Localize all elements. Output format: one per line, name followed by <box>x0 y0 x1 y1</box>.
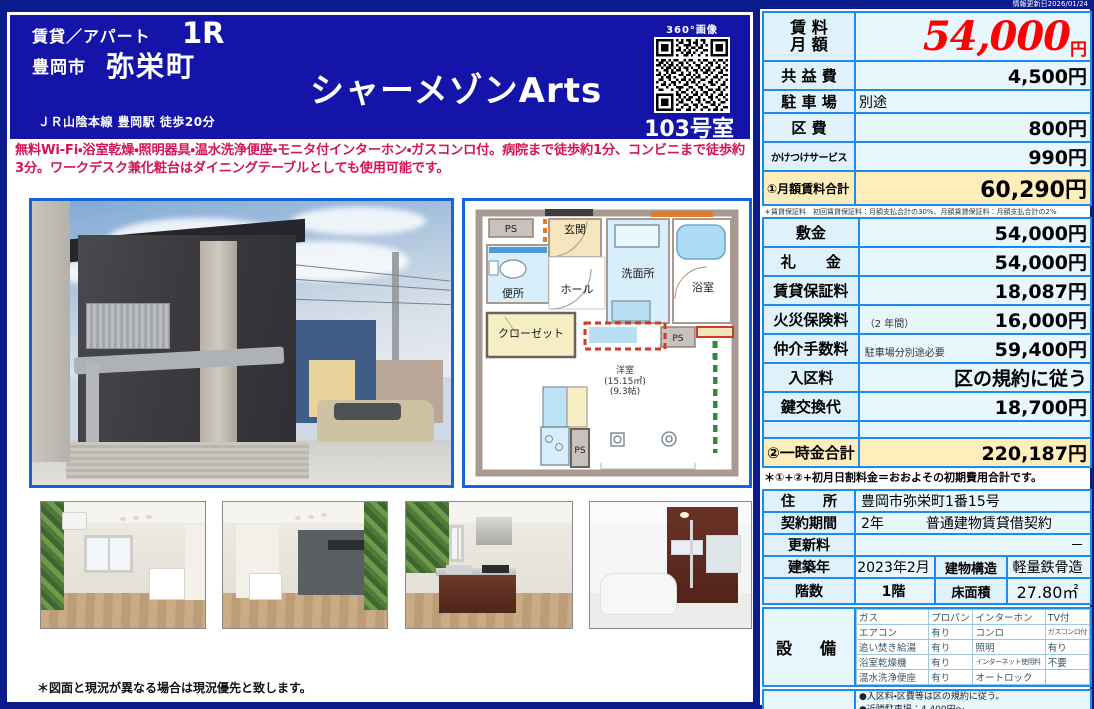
equipment-value <box>1045 670 1089 685</box>
build-year-label: 建築年 <box>763 556 855 578</box>
remarks-table: 備 考 ●入区料・区費等は区の規約に従う。 ●近隣駐車場：4,400円～ ●仲介… <box>762 689 1092 709</box>
counter-desk <box>149 568 185 601</box>
equipment-row: ガス プロパン インターホン TV付 <box>857 610 1090 625</box>
partition-wall <box>185 525 205 601</box>
equipment-value: 有り <box>1045 640 1089 655</box>
facade-panel <box>200 241 238 445</box>
table-row-support-service: かけつけサービス 990円 <box>763 142 1091 171</box>
remarks-label: 備 考 <box>763 690 855 709</box>
floor-area-value: 27.80㎡ <box>1007 578 1091 604</box>
initial-cost-note: ＊①+②+初月日割料金＝おおよその初期費用合計です。 <box>760 468 1090 487</box>
district-entry-fee-label: 入区料 <box>763 363 859 392</box>
table-row-fire-insurance: 火災保険料 （2 年間） 16,000円 <box>763 305 1091 334</box>
shower-rail <box>690 520 693 588</box>
equipment-key: ガス <box>857 610 929 625</box>
left-panel: 賃貸／アパート 1R 豊岡市 弥栄町 シャーメゾンArts ＪＲ山陰本線 豊岡駅… <box>4 9 756 705</box>
right-panel: 賃 料月 額 54,000円 共 益 費 4,500円 駐 車 場 別途 区 費… <box>760 9 1090 705</box>
onetime-total-value: 220,187円 <box>859 438 1091 467</box>
svg-text:ホール: ホール <box>561 283 594 296</box>
green-accent-wall <box>406 502 449 573</box>
equipment-key: コンロ <box>973 625 1045 640</box>
svg-text:(15.15㎡): (15.15㎡) <box>604 376 646 387</box>
address-value: 豊岡市弥栄町1番15号 <box>855 490 1091 512</box>
table-row-address: 住 所 豊岡市弥栄町1番15号 <box>763 490 1091 512</box>
support-service-label: かけつけサービス <box>763 142 855 171</box>
table-row-district-fee: 区 費 800円 <box>763 113 1091 142</box>
deposit-label: 敷金 <box>763 218 859 247</box>
table-row-guarantee-fee: 賃貸保証料 18,087円 <box>763 276 1091 305</box>
equipment-row: 温水洗浄便座 有り オートロック <box>857 670 1090 685</box>
building-name: シャーメゾンArts <box>310 63 602 112</box>
table-row-onetime-total: ②一時金合計 220,187円 <box>763 438 1091 467</box>
svg-text:PS: PS <box>505 224 517 235</box>
district-fee-label: 区 費 <box>763 113 855 142</box>
ceiling <box>223 502 387 523</box>
window <box>449 525 464 563</box>
guarantee-note: ＊賃貸保証料 初回賃貸保証料：月額支払合計の30%、月額賃貸保証料：月額支払合計… <box>760 206 1090 217</box>
contract-period-value: 2年 普通建物賃貸借契約 <box>855 512 1091 534</box>
deposit-value: 54,000円 <box>859 218 1091 247</box>
qr-code-icon[interactable] <box>654 37 730 113</box>
equipment-value: 有り <box>929 670 973 685</box>
table-row-renewal-fee: 更新料 － <box>763 534 1091 556</box>
table-row-key-exchange: 鍵交換代 18,700円 <box>763 392 1091 421</box>
remark-line: ●近隣駐車場：4,400円～ <box>859 704 1087 709</box>
rent-table: 賃 料月 額 54,000円 共 益 費 4,500円 駐 車 場 別途 区 費… <box>762 11 1092 206</box>
exterior-scene <box>32 201 451 485</box>
downlight <box>133 516 139 520</box>
svg-text:浴室: 浴室 <box>692 281 714 294</box>
table-row-key-money: 礼 金 54,000円 <box>763 247 1091 276</box>
district-entry-fee-value: 区の規約に従う <box>859 363 1091 392</box>
equipment-key: 照明 <box>973 640 1045 655</box>
room-number: 103号室 <box>644 111 734 139</box>
equipment-label: 設 備 <box>763 608 855 686</box>
air-conditioner <box>62 512 87 530</box>
parking-value: 別途 <box>855 90 1091 113</box>
parking-label: 駐 車 場 <box>763 90 855 113</box>
contract-period-label: 契約期間 <box>763 512 855 534</box>
downlight <box>308 515 314 519</box>
table-row-blank <box>763 421 1091 438</box>
table-row-monthly-total: ①月額賃料合計 60,290円 <box>763 171 1091 205</box>
property-type-label: 賃貸／アパート <box>32 23 151 47</box>
blank-value <box>859 421 1091 438</box>
equipment-value: 有り <box>929 640 973 655</box>
equipment-key: インターホン <box>973 610 1045 625</box>
detail-table: 住 所 豊岡市弥栄町1番15号 契約期間 2年 普通建物賃貸借契約 更新料 － … <box>762 489 1092 605</box>
city-label: 豊岡市 <box>32 53 86 78</box>
svg-text:クローゼット: クローゼット <box>498 327 564 340</box>
equipment-value: TV付 <box>1045 610 1089 625</box>
table-row-remarks: 備 考 ●入区料・区費等は区の規約に従う。 ●近隣駐車場：4,400円～ ●仲介… <box>763 690 1091 709</box>
town-label: 弥栄町 <box>106 45 196 85</box>
shelf <box>328 540 364 550</box>
table-row-build-structure: 建築年 2023年2月 建物構造 軽量鉄骨造 <box>763 556 1091 578</box>
table-row-common-fee: 共 益 費 4,500円 <box>763 61 1091 90</box>
equipment-row: 追い焚き給湯 有り 照明 有り <box>857 640 1090 655</box>
equipment-key: エアコン <box>857 625 929 640</box>
structure-value: 軽量鉄骨造 <box>1007 556 1091 578</box>
photo-kitchen[interactable] <box>405 501 573 629</box>
floorplan-drawing: PS <box>465 201 749 485</box>
remarks-body: ●入区料・区費等は区の規約に従う。 ●近隣駐車場：4,400円～ ●仲介手数料・… <box>855 690 1091 709</box>
common-fee-label: 共 益 費 <box>763 61 855 90</box>
key-money-value: 54,000円 <box>859 247 1091 276</box>
equipment-key: 浴室乾燥機 <box>857 655 929 670</box>
onetime-total-label: ②一時金合計 <box>763 438 859 467</box>
svg-text:(9.3帖): (9.3帖) <box>610 385 640 397</box>
photo-living-1[interactable] <box>40 501 206 629</box>
fire-insurance-value-cell: （2 年間） 16,000円 <box>859 305 1091 334</box>
svg-text:玄関: 玄関 <box>564 223 586 236</box>
guarantee-fee-value: 18,087円 <box>859 276 1091 305</box>
svg-text:便所: 便所 <box>502 286 524 300</box>
key-exchange-value: 18,700円 <box>859 392 1091 421</box>
equipment-key: 追い焚き給湯 <box>857 640 929 655</box>
equipment-value: 不要 <box>1045 655 1089 670</box>
boundary-wall <box>66 442 309 479</box>
brokerage-fee-label: 仲介手数料 <box>763 334 859 363</box>
table-row-brokerage-fee: 仲介手数料 駐車場分別途必要 59,400円 <box>763 334 1091 363</box>
counter-desk <box>249 573 282 601</box>
range-hood <box>476 517 513 545</box>
blank-label <box>763 421 859 438</box>
equipment-key: オートロック <box>973 670 1045 685</box>
monthly-total-label: ①月額賃料合計 <box>763 171 855 205</box>
floor-label: 階数 <box>763 578 855 604</box>
qr-block[interactable]: 360°画像 <box>650 21 734 113</box>
bathtub <box>600 573 677 616</box>
downlight <box>146 515 152 519</box>
kitchen-cabinet <box>439 575 515 613</box>
equipment-value: 有り <box>929 625 973 640</box>
property-description: 無料Wi-Fi・浴室乾燥・照明器具・温水洗浄便座・モニタ付インターホン・ガスコン… <box>15 142 747 177</box>
downlight <box>120 517 126 521</box>
table-row-contract-period: 契約期間 2年 普通建物賃貸借契約 <box>763 512 1091 534</box>
equipment-value: 有り <box>929 655 973 670</box>
key-exchange-label: 鍵交換代 <box>763 392 859 421</box>
equipment-value: ガスコンロ付 <box>1045 625 1089 640</box>
equipment-row: 浴室乾燥機 有り インターネット使用料 不要 <box>857 655 1090 670</box>
floor-value: 1階 <box>855 578 935 604</box>
svg-text:PS: PS <box>574 446 585 456</box>
fire-insurance-value: 16,000円 <box>995 306 1087 333</box>
svg-text:洗面所: 洗面所 <box>622 266 655 280</box>
address-label: 住 所 <box>763 490 855 512</box>
side-wall <box>32 201 70 462</box>
green-accent-wall <box>364 502 387 610</box>
carport-leg <box>86 363 99 448</box>
photo-exterior[interactable] <box>29 198 454 488</box>
build-year-value: 2023年2月 <box>855 556 935 578</box>
floor-area-label: 床面積 <box>935 578 1007 604</box>
access-label: ＪＲ山陰本線 豊岡駅 徒歩20分 <box>38 113 215 130</box>
brokerage-fee-value: 59,400円 <box>995 335 1087 362</box>
district-fee-value: 800円 <box>855 113 1091 142</box>
photo-living-2[interactable] <box>222 501 388 629</box>
photo-bathroom[interactable] <box>589 501 752 629</box>
key-money-label: 礼 金 <box>763 247 859 276</box>
equipment-key: 温水洗浄便座 <box>857 670 929 685</box>
mirror <box>706 535 741 573</box>
photo-floorplan[interactable]: PS <box>462 198 752 488</box>
guarantee-fee-label: 賃貸保証料 <box>763 276 859 305</box>
header-band: 賃貸／アパート 1R 豊岡市 弥栄町 シャーメゾンArts ＪＲ山陰本線 豊岡駅… <box>10 15 750 139</box>
table-row-equipment: 設 備 ガス プロパン インターホン TV付 エアコン 有り コンロ <box>763 608 1091 686</box>
listing-page: 情報更新日2026/01/24 賃貸／アパート 1R 豊岡市 弥栄町 シャーメゾ… <box>0 0 1094 709</box>
gas-stove <box>482 565 509 573</box>
equipment-grid: ガス プロパン インターホン TV付 エアコン 有り コンロ ガスコンロ付 <box>856 609 1090 685</box>
window <box>84 535 133 573</box>
fire-insurance-memo: （2 年間） <box>863 315 915 330</box>
cloud <box>292 207 426 235</box>
footnote-left: ＊図面と現況が異なる場合は現況優先と致します。 <box>37 679 312 696</box>
renewal-fee-label: 更新料 <box>763 534 855 556</box>
structure-label: 建物構造 <box>935 556 1007 578</box>
svg-text:PS: PS <box>672 334 683 344</box>
downlight <box>295 516 301 520</box>
deposit-table: 敷金 54,000円 礼 金 54,000円 賃貸保証料 18,087円 火災保… <box>762 217 1092 468</box>
car-window <box>334 403 401 420</box>
sink <box>446 565 473 574</box>
table-row-floor-area: 階数 1階 床面積 27.80㎡ <box>763 578 1091 604</box>
equipment-row: エアコン 有り コンロ ガスコンロ付 <box>857 625 1090 640</box>
green-accent-wall <box>41 502 64 610</box>
table-row-deposit: 敷金 54,000円 <box>763 218 1091 247</box>
balcony <box>86 303 170 348</box>
rent-label: 賃 料月 額 <box>763 12 855 61</box>
floor <box>223 593 387 628</box>
equipment-grid-cell: ガス プロパン インターホン TV付 エアコン 有り コンロ ガスコンロ付 <box>855 608 1091 686</box>
svg-text:洋室: 洋室 <box>616 364 634 376</box>
rent-value-cell: 54,000円 <box>855 12 1091 61</box>
mirror <box>671 540 703 555</box>
qr-caption: 360°画像 <box>650 21 734 36</box>
remark-line: ●入区料・区費等は区の規約に従う。 <box>859 691 1087 703</box>
support-service-value: 990円 <box>855 142 1091 171</box>
table-row-rent: 賃 料月 額 54,000円 <box>763 12 1091 61</box>
table-row-district-entry-fee: 入区料 区の規約に従う <box>763 363 1091 392</box>
equipment-key: インターネット使用料 <box>973 655 1045 670</box>
common-fee-value: 4,500円 <box>855 61 1091 90</box>
rent-amount: 54,000 <box>923 13 1070 60</box>
fire-insurance-label: 火災保険料 <box>763 305 859 334</box>
brokerage-fee-memo: 駐車場分別途必要 <box>863 344 945 359</box>
rent-unit: 円 <box>1070 40 1087 60</box>
renewal-fee-value: － <box>855 534 1091 556</box>
table-row-parking: 駐 車 場 別途 <box>763 90 1091 113</box>
equipment-table: 設 備 ガス プロパン インターホン TV付 エアコン 有り コンロ <box>762 607 1092 687</box>
update-date: 情報更新日2026/01/24 <box>0 0 1094 9</box>
monthly-total-value: 60,290円 <box>855 171 1091 205</box>
brokerage-fee-value-cell: 駐車場分別途必要 59,400円 <box>859 334 1091 363</box>
equipment-value: プロパン <box>929 610 973 625</box>
